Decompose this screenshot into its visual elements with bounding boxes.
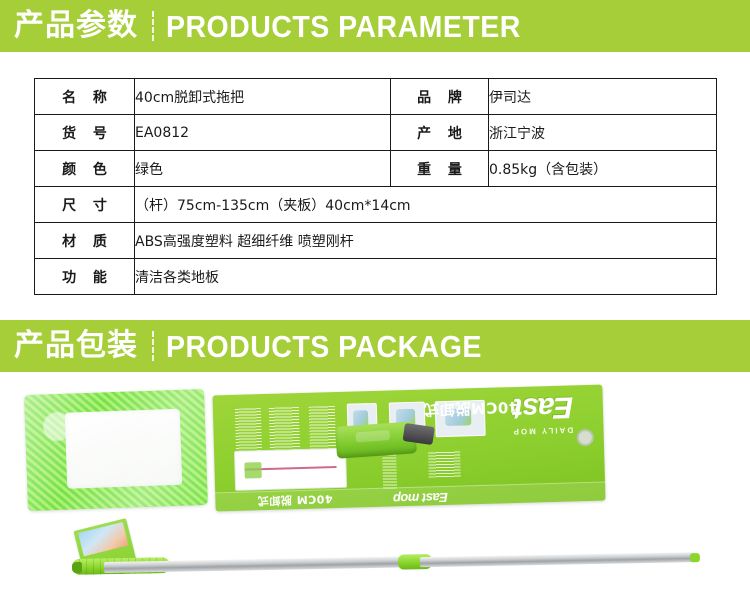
spec-table: 名 称 40cm脱卸式拖把 品 牌 伊司达 货 号 EA0812 产 地 浙江宁… — [34, 78, 717, 295]
table-row: 功 能 清洁各类地板 — [35, 259, 717, 295]
pole-segment-upper — [420, 552, 696, 567]
section-title-cn-parameter: 产品参数 — [14, 11, 138, 41]
section-title-en-package: PRODUCTS PACKAGE — [166, 331, 482, 362]
card-bottom-spec-text: 40CM 脱卸式 — [257, 491, 333, 509]
spec-label: 材 质 — [35, 223, 135, 259]
table-row: 材 质 ABS高强度塑料 超细纤维 喷塑刚杆 — [35, 223, 717, 259]
card-hang-hole — [577, 429, 594, 446]
section-title-cn-package: 产品包装 — [14, 331, 138, 361]
section-banner-package: 产品包装 PRODUCTS PACKAGE — [0, 320, 750, 372]
table-row: 名 称 40cm脱卸式拖把 品 牌 伊司达 — [35, 79, 717, 115]
card-brand-subtitle: DAILY MOP — [512, 425, 574, 436]
section-title-en-parameter: PRODUCTS PARAMETER — [166, 11, 521, 42]
table-row: 货 号 EA0812 产 地 浙江宁波 — [35, 115, 717, 151]
spec-label: 尺 寸 — [35, 187, 135, 223]
spec-value: 40cm脱卸式拖把 — [135, 79, 391, 115]
spec-value: ABS高强度塑料 超细纤维 喷塑刚杆 — [135, 223, 717, 259]
mop-pad-in-bag — [24, 389, 208, 511]
banner-divider-parameter — [152, 11, 154, 41]
card-bottom-brand: East mop — [393, 490, 448, 507]
card-spec-text: 40CM脱卸式 — [423, 397, 519, 421]
spec-value: 清洁各类地板 — [135, 259, 717, 295]
card-brand-logo: East — [513, 391, 573, 423]
card-assembly-diagram — [234, 448, 347, 491]
mop-clamp-head — [335, 421, 417, 459]
banner-divider-package — [152, 331, 154, 361]
pole-end-cap — [72, 562, 82, 573]
spec-label: 名 称 — [35, 79, 135, 115]
spec-label: 品 牌 — [391, 79, 489, 115]
hang-tag-photo — [78, 522, 128, 556]
card-text-block — [428, 451, 461, 478]
table-row: 颜 色 绿色 重 量 0.85kg（含包装） — [35, 151, 717, 187]
spec-value: （杆）75cm-135cm（夹板）40cm*14cm — [135, 187, 717, 223]
pole-tip — [690, 553, 700, 562]
spec-label: 功 能 — [35, 259, 135, 295]
spec-value: 绿色 — [135, 151, 391, 187]
spec-label: 货 号 — [35, 115, 135, 151]
section-banner-parameter: 产品参数 PRODUCTS PARAMETER — [0, 0, 750, 52]
spec-label: 颜 色 — [35, 151, 135, 187]
telescopic-pole — [104, 551, 696, 573]
spec-value: 0.85kg（含包装） — [489, 151, 717, 187]
spec-value: EA0812 — [135, 115, 391, 151]
pad-label-patch — [64, 408, 182, 489]
table-row: 尺 寸 （杆）75cm-135cm（夹板）40cm*14cm — [35, 187, 717, 223]
spec-value: 浙江宁波 — [489, 115, 717, 151]
spec-value: 伊司达 — [489, 79, 717, 115]
product-package-photo: 40CM脱卸式 East DAILY MOP 40CM 脱卸式 East mop… — [0, 372, 750, 600]
spec-label: 产 地 — [391, 115, 489, 151]
spec-label: 重 量 — [391, 151, 489, 187]
